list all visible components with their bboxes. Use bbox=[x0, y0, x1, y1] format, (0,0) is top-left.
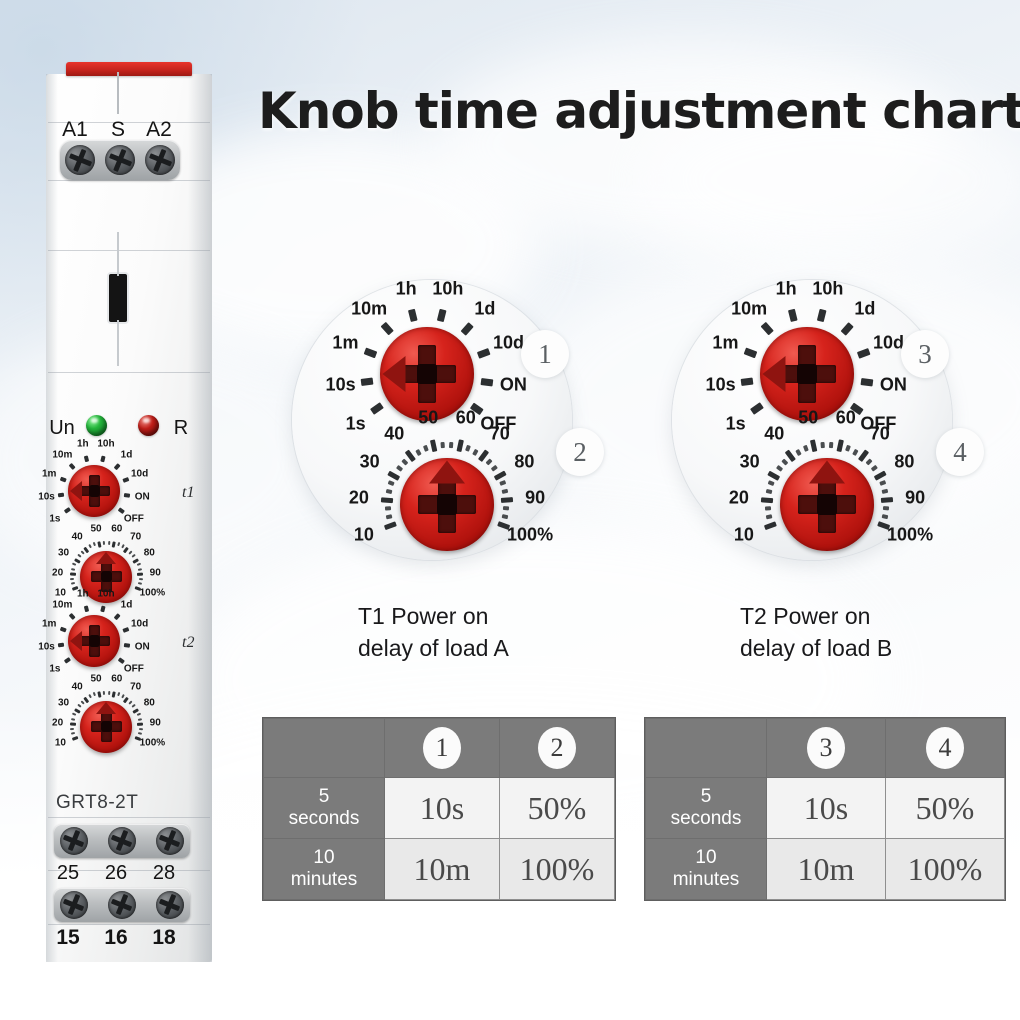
dial-tick bbox=[764, 521, 777, 530]
dial-tick bbox=[861, 378, 873, 386]
dial-label: 40 bbox=[72, 682, 83, 693]
dial-tick bbox=[84, 605, 89, 612]
dial-label: 10h bbox=[97, 439, 114, 450]
dial-label: 60 bbox=[111, 673, 122, 684]
dial-label: 10d bbox=[131, 469, 148, 480]
dial-label: 1m bbox=[332, 333, 358, 354]
caption-t1-line2: delay of load A bbox=[358, 632, 638, 664]
dial-minor-tick bbox=[883, 506, 890, 511]
dial-minor-tick bbox=[440, 442, 445, 449]
bottom-terminal-block-lower bbox=[54, 888, 190, 922]
dial-label: 1h bbox=[77, 439, 89, 450]
dial-label: 1s bbox=[49, 513, 60, 524]
dial-tick bbox=[381, 497, 393, 503]
caption-t2: T2 Power on delay of load B bbox=[740, 600, 1020, 664]
dial-tick bbox=[113, 613, 120, 620]
dial-tick bbox=[477, 348, 490, 358]
dial-minor-tick bbox=[73, 563, 77, 566]
dial-minor-tick bbox=[775, 465, 783, 472]
device-seam bbox=[48, 180, 210, 181]
terminal-label-15: 15 bbox=[48, 926, 88, 950]
dial-label: 40 bbox=[764, 423, 784, 444]
dial-label: 80 bbox=[144, 547, 155, 558]
dial-tick bbox=[494, 470, 507, 480]
callout-badge-4: 4 bbox=[936, 428, 984, 476]
dial-tick bbox=[841, 322, 854, 335]
screw-terminal-16[interactable] bbox=[108, 891, 136, 919]
dial-minor-tick bbox=[73, 713, 77, 716]
dial-minor-tick bbox=[449, 442, 454, 449]
knob-cross-center bbox=[101, 571, 113, 583]
dial-minor-tick bbox=[852, 448, 859, 456]
dial-minor-tick bbox=[138, 582, 142, 585]
dial-label: 100% bbox=[140, 738, 166, 749]
screw-terminal-28[interactable] bbox=[156, 827, 184, 855]
dial-minor-tick bbox=[77, 554, 81, 558]
table-row: 5seconds10s50% bbox=[264, 778, 615, 839]
dial-label: ON bbox=[500, 374, 527, 395]
dial-minor-tick bbox=[871, 465, 879, 472]
dial-minor-tick bbox=[384, 506, 391, 511]
dial-label: 10h bbox=[812, 279, 843, 300]
dial-minor-tick bbox=[88, 545, 91, 549]
dial-label: 10s bbox=[38, 642, 55, 653]
dial-label: 50 bbox=[798, 408, 818, 429]
table-header-badge-1: 1 bbox=[385, 719, 500, 778]
dial-label: 30 bbox=[360, 451, 380, 472]
dial-label: 20 bbox=[52, 717, 63, 728]
dial-tick bbox=[136, 572, 143, 575]
header-badge: 4 bbox=[926, 727, 964, 769]
dial-minor-tick bbox=[71, 578, 75, 580]
knob-cross-center bbox=[101, 721, 113, 733]
dial-tick bbox=[113, 463, 120, 470]
dial-minor-tick bbox=[93, 693, 96, 697]
relay-led-red bbox=[138, 415, 159, 436]
table-header-badge-2: 2 bbox=[500, 719, 615, 778]
dial-label: 30 bbox=[58, 547, 69, 558]
dial-label: 100% bbox=[507, 524, 553, 545]
dial-label: OFF bbox=[124, 663, 144, 674]
dial-label: 1h bbox=[396, 279, 417, 300]
dial-label: 100% bbox=[887, 524, 933, 545]
table-t2: 345seconds10s50%10minutes10m100% bbox=[645, 718, 1005, 900]
row-label-line2: seconds bbox=[289, 808, 360, 829]
dial-tick bbox=[84, 455, 89, 462]
device-seam bbox=[48, 372, 210, 373]
terminal-label-s: S bbox=[98, 118, 138, 142]
dial-tick bbox=[63, 507, 70, 514]
dial-tick bbox=[874, 470, 887, 480]
dial-tick bbox=[69, 463, 76, 470]
dial-tick bbox=[744, 348, 757, 358]
terminal-label-18: 18 bbox=[144, 926, 184, 950]
dial-minor-tick bbox=[845, 445, 851, 452]
dial-tick bbox=[384, 521, 397, 530]
dial-label: 90 bbox=[525, 487, 545, 508]
dial-tick bbox=[100, 605, 105, 612]
dial-tick bbox=[788, 309, 797, 322]
dial-label: 60 bbox=[456, 408, 476, 429]
dial-minor-tick bbox=[423, 445, 429, 452]
dial-minor-tick bbox=[502, 514, 509, 519]
dial-tick bbox=[59, 627, 66, 633]
power-led-green bbox=[86, 415, 107, 436]
screw-terminal-s[interactable] bbox=[105, 145, 135, 175]
dial-label: 1h bbox=[77, 589, 89, 600]
dial-minor-tick bbox=[128, 701, 132, 705]
row-label-line2: minutes bbox=[673, 869, 740, 890]
dial-minor-tick bbox=[387, 480, 394, 486]
dial-minor-tick bbox=[80, 551, 84, 555]
dial-label: 20 bbox=[52, 567, 63, 578]
screw-terminal-18[interactable] bbox=[156, 891, 184, 919]
knob-pointer-arrow bbox=[96, 552, 116, 564]
dial-minor-tick bbox=[71, 582, 75, 585]
dial-tick bbox=[364, 348, 377, 358]
dial-label: 90 bbox=[905, 487, 925, 508]
dial-tick bbox=[761, 497, 773, 503]
dial-minor-tick bbox=[71, 732, 75, 735]
device-top-red-strip bbox=[66, 62, 192, 76]
knob-pointer-arrow bbox=[70, 481, 82, 501]
dial-minor-tick bbox=[767, 480, 774, 486]
dial-minor-tick bbox=[139, 728, 143, 730]
dial-label: 30 bbox=[58, 697, 69, 708]
row-label-line1: 10 bbox=[313, 847, 334, 868]
dial-minor-tick bbox=[879, 480, 886, 486]
dial-minor-tick bbox=[499, 480, 506, 486]
row-label-line1: 5 bbox=[701, 786, 712, 807]
caption-t1: T1 Power on delay of load A bbox=[358, 600, 638, 664]
dial-minor-tick bbox=[795, 448, 802, 456]
dial-minor-tick bbox=[485, 458, 492, 466]
terminal-label-16: 16 bbox=[96, 926, 136, 950]
dial-tick bbox=[456, 439, 464, 452]
dial-label: 60 bbox=[111, 523, 122, 534]
table-row: 10minutes10m100% bbox=[264, 839, 615, 900]
dial-label: 1m bbox=[42, 619, 56, 630]
dial-label: 80 bbox=[514, 451, 534, 472]
dial-minor-tick bbox=[385, 489, 392, 494]
table-row: 5seconds10s50% bbox=[646, 778, 1005, 839]
table-row-label: 5seconds bbox=[646, 778, 767, 839]
screw-terminal-25[interactable] bbox=[60, 827, 88, 855]
device-groove bbox=[117, 232, 119, 276]
dial-minor-tick bbox=[108, 541, 110, 545]
dial-minor-tick bbox=[132, 704, 136, 708]
dial-tick bbox=[430, 439, 438, 452]
knob-cross-center bbox=[817, 494, 838, 515]
dial-minor-tick bbox=[128, 551, 132, 555]
row-label-line1: 10 bbox=[695, 847, 716, 868]
terminal-label-a2: A2 bbox=[139, 118, 179, 142]
dial-label: 1d bbox=[121, 450, 133, 461]
table-t1: 125seconds10s50%10minutes10m100% bbox=[263, 718, 615, 900]
dial-label: 1d bbox=[474, 298, 495, 319]
dial-label: 10d bbox=[131, 619, 148, 630]
dial-label: 10s bbox=[326, 374, 356, 395]
table-cell-value: 50% bbox=[500, 778, 615, 839]
dial-label: 50 bbox=[90, 673, 101, 684]
dial-minor-tick bbox=[820, 442, 825, 449]
screw-terminal-a1[interactable] bbox=[65, 145, 95, 175]
dial-tick bbox=[760, 322, 773, 335]
table-cell-value: 10s bbox=[767, 778, 886, 839]
device-seam bbox=[48, 250, 210, 251]
screw-terminal-a2[interactable] bbox=[145, 145, 175, 175]
dial-minor-tick bbox=[132, 554, 136, 558]
dial-tick bbox=[58, 643, 65, 647]
device-groove bbox=[117, 72, 119, 114]
table-cell-value: 100% bbox=[500, 839, 615, 900]
dial-label: 70 bbox=[130, 532, 141, 543]
device-percent-dial-t2[interactable]: 102030405060708090100% bbox=[56, 682, 196, 782]
dial-minor-tick bbox=[71, 568, 75, 571]
dial-label: 90 bbox=[150, 717, 161, 728]
bottom-terminal-block-upper bbox=[54, 824, 190, 858]
dial-tick bbox=[408, 309, 417, 322]
dial-tick bbox=[69, 613, 76, 620]
dial-minor-tick bbox=[765, 489, 772, 494]
dial-label: 40 bbox=[384, 423, 404, 444]
terminal-label-26: 26 bbox=[96, 862, 136, 885]
dial-label: 10d bbox=[493, 333, 524, 354]
knob-pointer-arrow bbox=[70, 631, 82, 651]
dial-tick bbox=[817, 309, 826, 322]
table-header-badge-3: 3 bbox=[767, 719, 886, 778]
dial-minor-tick bbox=[139, 578, 143, 580]
dial-tick bbox=[70, 722, 77, 725]
dial-label: 10s bbox=[706, 374, 736, 395]
dial-tick bbox=[836, 439, 844, 452]
dial-label: 10m bbox=[52, 450, 72, 461]
dial-tick bbox=[122, 477, 129, 483]
table-header-blank bbox=[264, 719, 385, 778]
dial-minor-tick bbox=[401, 458, 408, 466]
table-row: 10minutes10m100% bbox=[646, 839, 1005, 900]
device-model-code: GRT8-2T bbox=[56, 792, 138, 814]
dial-minor-tick bbox=[829, 442, 834, 449]
table-cell-value: 50% bbox=[886, 778, 1005, 839]
dial-label: 1d bbox=[121, 600, 133, 611]
dial-minor-tick bbox=[71, 728, 75, 730]
dial-label: 10 bbox=[55, 738, 66, 749]
dial-tick bbox=[437, 309, 446, 322]
led-label-un: Un bbox=[44, 417, 80, 440]
dial-tick bbox=[111, 540, 115, 547]
dial-tick bbox=[388, 470, 401, 480]
dial-tick bbox=[136, 722, 143, 725]
dial-minor-tick bbox=[136, 563, 140, 566]
callout-percent-dial-t2[interactable]: 102030405060708090100% bbox=[736, 424, 936, 564]
dial-minor-tick bbox=[108, 691, 110, 695]
dial-label: 10 bbox=[354, 524, 374, 545]
dial-label: 10h bbox=[432, 279, 463, 300]
page-title: Knob time adjustment chart bbox=[258, 80, 1018, 142]
screw-terminal-15[interactable] bbox=[60, 891, 88, 919]
dial-label: 10h bbox=[97, 589, 114, 600]
dial-tick bbox=[111, 690, 115, 697]
dial-tick bbox=[124, 493, 131, 497]
header-badge: 3 bbox=[807, 727, 845, 769]
dial-tick bbox=[741, 378, 753, 386]
dial-tick bbox=[380, 322, 393, 335]
din-clip-slot bbox=[109, 274, 127, 322]
dial-tick bbox=[97, 690, 101, 697]
dial-label: ON bbox=[135, 492, 150, 503]
dial-label: 1m bbox=[712, 333, 738, 354]
callout-percent-dial-t1[interactable]: 102030405060708090100% bbox=[356, 424, 556, 564]
dial-minor-tick bbox=[103, 691, 105, 695]
row-label-line2: minutes bbox=[291, 869, 358, 890]
dial-tick bbox=[63, 657, 70, 664]
dial-minor-tick bbox=[865, 458, 872, 466]
dial-tick bbox=[70, 572, 77, 575]
table-cell-value: 100% bbox=[886, 839, 1005, 900]
dial-label: 60 bbox=[836, 408, 856, 429]
dial-minor-tick bbox=[93, 543, 96, 547]
timer-relay-device: A1 S A2 Un R t1 1s10s1m10m1h10h1d10dONOF… bbox=[38, 62, 218, 970]
dial-minor-tick bbox=[415, 448, 422, 456]
callout-badge-2: 2 bbox=[556, 428, 604, 476]
knob-pointer-arrow bbox=[809, 460, 845, 483]
dial-minor-tick bbox=[502, 489, 509, 494]
knob-cross-center bbox=[437, 494, 458, 515]
table-row-label: 5seconds bbox=[264, 778, 385, 839]
dial-label: 50 bbox=[418, 408, 438, 429]
callout-badge-1: 1 bbox=[521, 330, 569, 378]
dial-minor-tick bbox=[136, 713, 140, 716]
dial-label: ON bbox=[880, 374, 907, 395]
dial-minor-tick bbox=[882, 514, 889, 519]
dial-tick bbox=[371, 403, 384, 415]
table-header-row: 12 bbox=[264, 719, 615, 778]
dial-tick bbox=[751, 403, 764, 415]
dial-label: 10m bbox=[731, 298, 767, 319]
dial-label: 1m bbox=[42, 469, 56, 480]
dial-minor-tick bbox=[503, 506, 510, 511]
dial-minor-tick bbox=[491, 465, 499, 472]
dial-label: 1d bbox=[854, 298, 875, 319]
dial-label: 40 bbox=[72, 532, 83, 543]
table-header-row: 34 bbox=[646, 719, 1005, 778]
table-header-badge-4: 4 bbox=[886, 719, 1005, 778]
knob-cross-center bbox=[417, 364, 438, 385]
dial-tick bbox=[124, 643, 131, 647]
dial-tick bbox=[58, 493, 65, 497]
dial-label: 1h bbox=[776, 279, 797, 300]
dial-tick bbox=[361, 378, 373, 386]
dial-tick bbox=[857, 348, 870, 358]
knob-pointer-arrow bbox=[383, 356, 406, 392]
dial-label: OFF bbox=[124, 513, 144, 524]
dial-tick bbox=[810, 439, 818, 452]
device-seam bbox=[48, 924, 210, 925]
top-terminal-block bbox=[60, 140, 180, 180]
table-header-blank bbox=[646, 719, 767, 778]
knob-pointer-arrow bbox=[763, 356, 786, 392]
dial-label: 50 bbox=[90, 523, 101, 534]
table-row-label: 10minutes bbox=[264, 839, 385, 900]
dial-label: 30 bbox=[740, 451, 760, 472]
table-row-label: 10minutes bbox=[646, 839, 767, 900]
dial-minor-tick bbox=[117, 693, 120, 697]
dial-minor-tick bbox=[138, 732, 142, 735]
device-seam bbox=[48, 817, 210, 818]
row-label-line1: 5 bbox=[319, 786, 330, 807]
dial-label: 80 bbox=[144, 697, 155, 708]
dial-tick bbox=[481, 378, 493, 386]
dial-minor-tick bbox=[882, 489, 889, 494]
dial-label: 10m bbox=[351, 298, 387, 319]
knob-cross-center bbox=[797, 364, 818, 385]
dial-minor-tick bbox=[472, 448, 479, 456]
dial-minor-tick bbox=[781, 458, 788, 466]
dial-minor-tick bbox=[764, 506, 771, 511]
dial-minor-tick bbox=[395, 465, 403, 472]
dial-tick bbox=[461, 322, 474, 335]
dial-label: ON bbox=[135, 642, 150, 653]
dial-label: 10s bbox=[38, 492, 55, 503]
dial-label: 70 bbox=[130, 682, 141, 693]
dial-label: 20 bbox=[729, 487, 749, 508]
dial-tick bbox=[501, 497, 513, 503]
header-badge: 1 bbox=[423, 727, 461, 769]
dial-label: 70 bbox=[870, 423, 890, 444]
dial-label: 10 bbox=[734, 524, 754, 545]
device-right-shading bbox=[188, 74, 212, 962]
dial-label: 80 bbox=[894, 451, 914, 472]
dial-tick bbox=[122, 627, 129, 633]
dial-minor-tick bbox=[117, 543, 120, 547]
device-groove bbox=[117, 320, 119, 366]
dial-label: 10d bbox=[873, 333, 904, 354]
dial-label: 10m bbox=[52, 600, 72, 611]
dial-tick bbox=[881, 497, 893, 503]
knob-cross-center bbox=[89, 485, 101, 497]
screw-terminal-26[interactable] bbox=[108, 827, 136, 855]
table-cell-value: 10m bbox=[385, 839, 500, 900]
knob-pointer-arrow bbox=[96, 702, 116, 714]
dial-label: 70 bbox=[490, 423, 510, 444]
table-cell-value: 10m bbox=[767, 839, 886, 900]
caption-t1-line1: T1 Power on bbox=[358, 600, 638, 632]
dial-minor-tick bbox=[80, 701, 84, 705]
dial-tick bbox=[768, 470, 781, 480]
led-label-r: R bbox=[168, 417, 194, 440]
dial-label: 1s bbox=[49, 663, 60, 674]
dial-label: 20 bbox=[349, 487, 369, 508]
dial-label: 90 bbox=[150, 567, 161, 578]
dial-minor-tick bbox=[803, 445, 809, 452]
dial-minor-tick bbox=[88, 695, 91, 699]
knob-pointer-arrow bbox=[429, 460, 465, 483]
dial-tick bbox=[71, 736, 78, 741]
infographic-canvas: Knob time adjustment chart A1 S A2 Un bbox=[0, 0, 1020, 1020]
table-cell-value: 10s bbox=[385, 778, 500, 839]
dial-minor-tick bbox=[465, 445, 471, 452]
callout-badge-3: 3 bbox=[901, 330, 949, 378]
header-badge: 2 bbox=[538, 727, 576, 769]
dial-minor-tick bbox=[103, 541, 105, 545]
dial-tick bbox=[100, 455, 105, 462]
dial-minor-tick bbox=[385, 514, 392, 519]
row-label-line2: seconds bbox=[671, 808, 742, 829]
dial-tick bbox=[97, 540, 101, 547]
terminal-label-a1: A1 bbox=[55, 118, 95, 142]
dial-minor-tick bbox=[138, 718, 142, 721]
